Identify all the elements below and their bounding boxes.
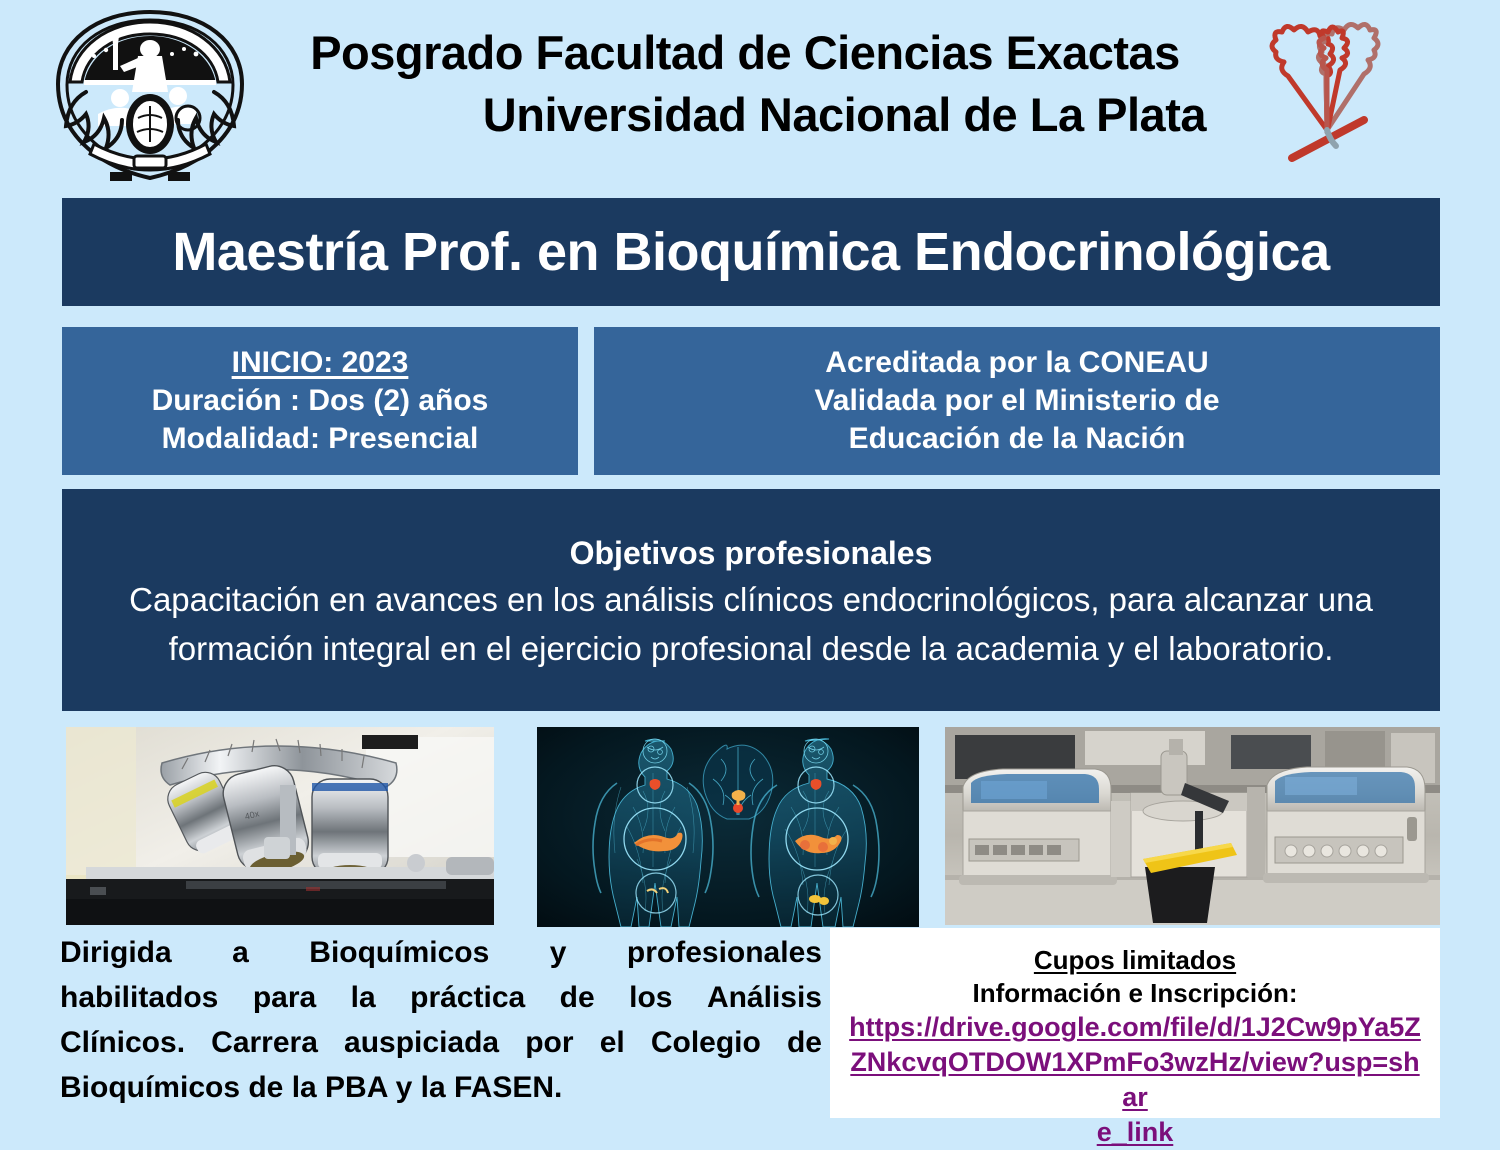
audience-line-1: DirigidaaBioquímicosyprofesionales <box>60 930 822 975</box>
program-duration-line: Duración : Dos (2) años <box>152 382 489 420</box>
poster-header: Posgrado Facultad de Ciencias Exactas Un… <box>0 0 1500 192</box>
oak-leaves-icon <box>1232 12 1422 172</box>
unlp-shield-icon <box>34 6 266 184</box>
limited-seats-label: Cupos limitados <box>1034 944 1236 977</box>
program-details-box: INICIO: 2023 Duración : Dos (2) años Mod… <box>62 327 578 475</box>
header-line-2: Universidad Nacional de La Plata <box>270 84 1220 146</box>
objectives-box: Objetivos profesionales Capacitación en … <box>62 489 1440 711</box>
endocrine-system-photo <box>537 727 919 927</box>
accreditation-line-3: Educación de la Nación <box>849 420 1186 458</box>
header-line-1: Posgrado Facultad de Ciencias Exactas <box>270 22 1220 84</box>
audience-paragraph: DirigidaaBioquímicosyprofesionales habil… <box>60 930 822 1110</box>
registration-link-line-3: e_link <box>845 1115 1425 1150</box>
header-titles: Posgrado Facultad de Ciencias Exactas Un… <box>270 22 1220 146</box>
registration-link[interactable]: https://drive.google.com/file/d/1J2Cw9pY… <box>845 1010 1425 1150</box>
registration-link-line-2: ZNkcvqOTDOW1XPmFo3wzHz/view?usp=shar <box>845 1045 1425 1115</box>
registration-link-line-1: https://drive.google.com/file/d/1J2Cw9pY… <box>845 1010 1425 1045</box>
clinical-lab-photo <box>945 727 1440 925</box>
microscope-photo: 40x <box>66 727 494 925</box>
accreditation-line-1: Acreditada por la CONEAU <box>825 344 1208 382</box>
registration-box: Cupos limitados Información e Inscripció… <box>830 928 1440 1118</box>
poster-canvas: Posgrado Facultad de Ciencias Exactas Un… <box>0 0 1500 1125</box>
objectives-body: Capacitación en avances en los análisis … <box>101 575 1401 673</box>
program-title-banner: Maestría Prof. en Bioquímica Endocrinoló… <box>62 198 1440 306</box>
accreditation-box: Acreditada por la CONEAU Validada por el… <box>594 327 1440 475</box>
registration-label: Información e Inscripción: <box>972 977 1297 1010</box>
program-modality-line: Modalidad: Presencial <box>162 420 479 458</box>
program-title: Maestría Prof. en Bioquímica Endocrinoló… <box>172 221 1329 283</box>
objectives-heading: Objetivos profesionales <box>570 531 933 575</box>
accreditation-line-2: Validada por el Ministerio de <box>814 382 1219 420</box>
audience-line-3: Clínicos.CarreraauspiciadaporelColegiode <box>60 1020 822 1065</box>
program-start-line: INICIO: 2023 <box>232 344 409 382</box>
audience-line-2: habilitadosparalaprácticadelosAnálisis <box>60 975 822 1020</box>
audience-line-4: Bioquímicos de la PBA y la FASEN. <box>60 1065 822 1110</box>
